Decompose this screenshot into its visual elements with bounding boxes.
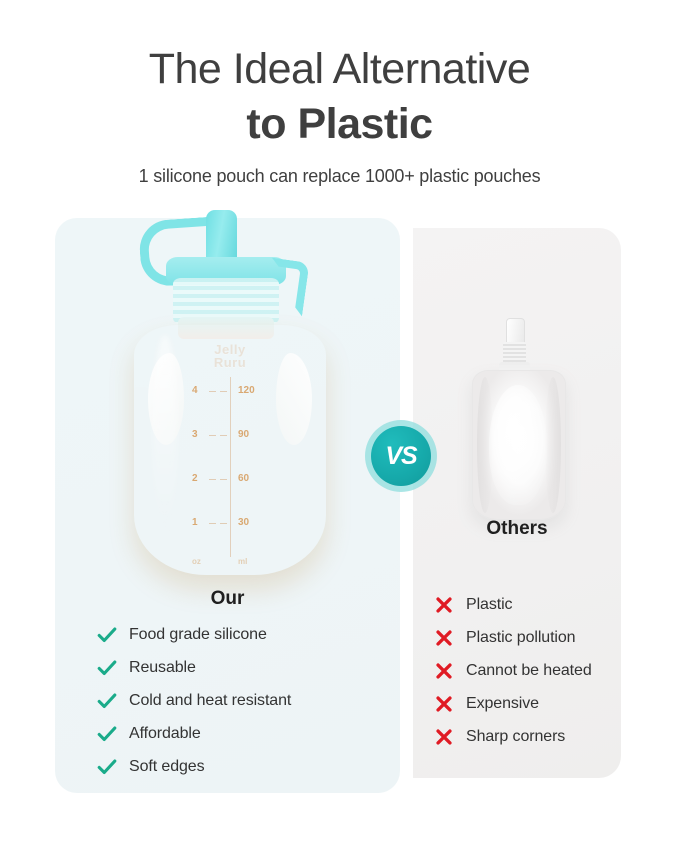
list-item-label: Cannot be heated	[466, 662, 592, 680]
scale-dash	[209, 435, 216, 436]
cross-icon	[433, 627, 455, 649]
feature-list-others: Plastic Plastic pollution Cannot be heat…	[433, 588, 592, 753]
list-item-label: Plastic	[466, 596, 512, 614]
list-item-label: Expensive	[466, 695, 539, 713]
list-item-label: Cold and heat resistant	[129, 692, 291, 710]
unit-oz: oz	[192, 557, 201, 566]
pouch-cap-thread	[503, 342, 526, 364]
vs-badge: VS	[365, 420, 437, 492]
list-item: Soft edges	[96, 750, 291, 783]
scale-dash	[220, 435, 227, 436]
list-item-label: Food grade silicone	[129, 626, 267, 644]
cross-icon	[433, 660, 455, 682]
bottle-body: Jelly Ruru 120 4 90 3 60 2 30 1 oz ml	[134, 325, 326, 575]
list-item: Cold and heat resistant	[96, 684, 291, 717]
plastic-pouch-image	[470, 318, 566, 518]
pouch-fold-right	[545, 377, 561, 513]
list-item: Expensive	[433, 687, 592, 720]
feature-list-ours: Food grade silicone Reusable Cold and he…	[96, 618, 291, 783]
list-item: Food grade silicone	[96, 618, 291, 651]
cross-icon	[433, 693, 455, 715]
scale-ml-3: 30	[238, 517, 249, 528]
silicone-pouch-bottle-image: Jelly Ruru 120 4 90 3 60 2 30 1 oz ml	[128, 205, 333, 580]
cross-icon	[433, 726, 455, 748]
scale-oz-0: 4	[192, 385, 198, 396]
scale-ml-0: 120	[238, 385, 255, 396]
bottle-measurement-scale: 120 4 90 3 60 2 30 1 oz ml	[134, 325, 326, 575]
page-header: The Ideal Alternative to Plastic 1 silic…	[0, 0, 679, 187]
cross-icon	[433, 594, 455, 616]
page-title-line2: to Plastic	[0, 103, 679, 146]
list-item: Cannot be heated	[433, 654, 592, 687]
scale-ml-2: 60	[238, 473, 249, 484]
list-item-label: Sharp corners	[466, 728, 565, 746]
scale-dash	[220, 391, 227, 392]
pouch-body	[472, 370, 566, 520]
list-item: Plastic	[433, 588, 592, 621]
scale-oz-2: 2	[192, 473, 198, 484]
vs-badge-circle: VS	[371, 426, 431, 486]
scale-tick-line	[230, 377, 231, 557]
list-item: Plastic pollution	[433, 621, 592, 654]
list-item-label: Soft edges	[129, 758, 205, 776]
scale-dash	[209, 523, 216, 524]
column-heading-ours: Our	[55, 588, 400, 610]
list-item-label: Reusable	[129, 659, 196, 677]
check-icon	[96, 624, 118, 646]
list-item: Sharp corners	[433, 720, 592, 753]
check-icon	[96, 657, 118, 679]
unit-ml: ml	[238, 557, 247, 566]
column-heading-others: Others	[413, 518, 621, 540]
scale-dash	[220, 523, 227, 524]
page-title-line1: The Ideal Alternative	[0, 48, 679, 91]
list-item: Reusable	[96, 651, 291, 684]
scale-oz-1: 3	[192, 429, 198, 440]
page-subtitle: 1 silicone pouch can replace 1000+ plast…	[0, 166, 679, 187]
check-icon	[96, 756, 118, 778]
scale-dash	[209, 479, 216, 480]
list-item: Affordable	[96, 717, 291, 750]
vs-badge-label: VS	[385, 442, 416, 471]
scale-dash	[209, 391, 216, 392]
scale-oz-3: 1	[192, 517, 198, 528]
pouch-highlight	[489, 385, 547, 505]
check-icon	[96, 723, 118, 745]
scale-ml-1: 90	[238, 429, 249, 440]
check-icon	[96, 690, 118, 712]
list-item-label: Affordable	[129, 725, 201, 743]
scale-dash	[220, 479, 227, 480]
list-item-label: Plastic pollution	[466, 629, 575, 647]
